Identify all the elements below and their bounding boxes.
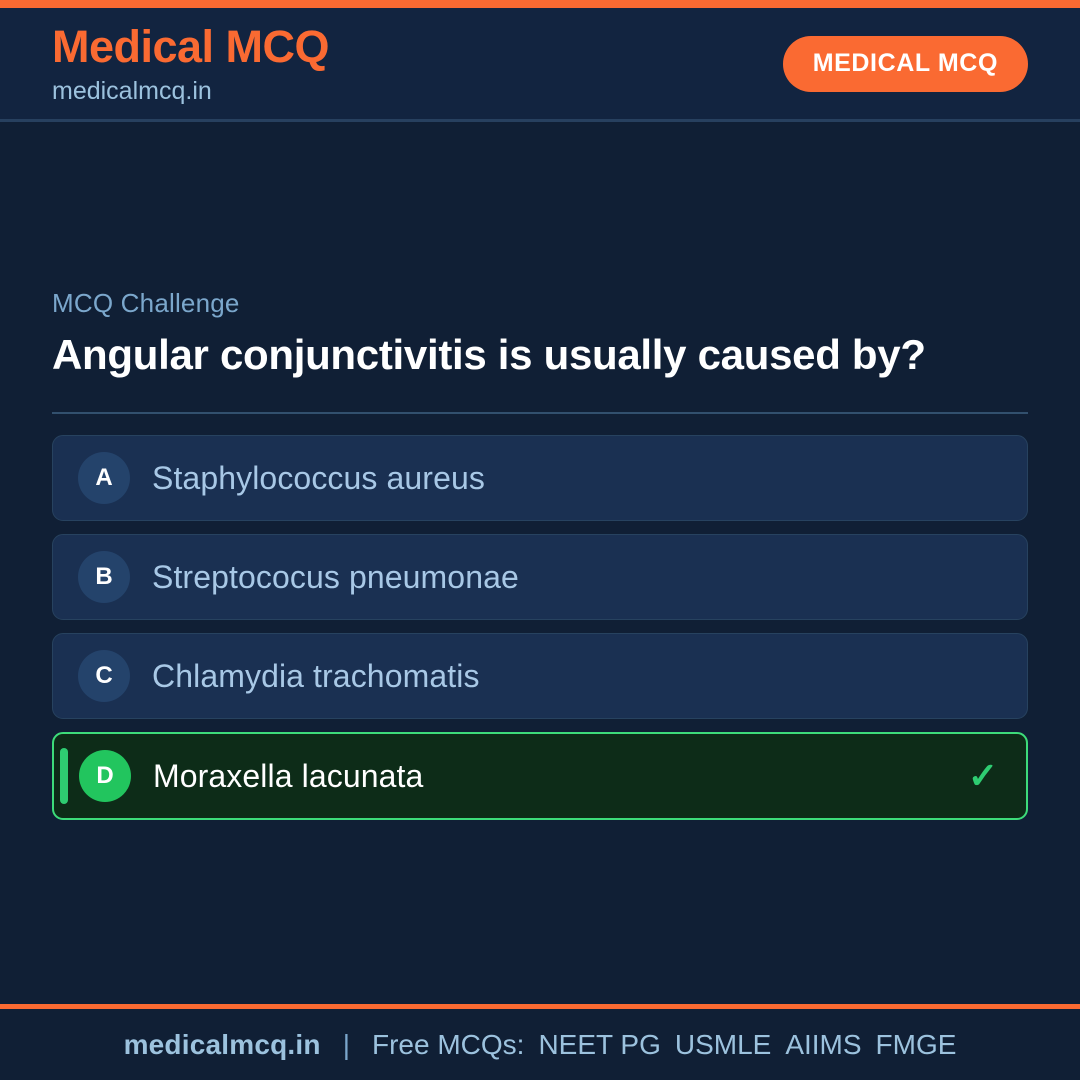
option-c[interactable]: C Chlamydia trachomatis xyxy=(52,633,1028,719)
footer-site-link[interactable]: medicalmcq.in xyxy=(124,1029,321,1061)
section-divider xyxy=(52,412,1028,414)
footer-exam-fmge[interactable]: FMGE xyxy=(876,1029,957,1061)
main-content: MCQ Challenge Angular conjunctivitis is … xyxy=(0,122,1080,1004)
option-label: Moraxella lacunata xyxy=(153,759,968,794)
option-label: Streptococus pneumonae xyxy=(152,560,999,595)
mcq-card: Medical MCQ medicalmcq.in MEDICAL MCQ MC… xyxy=(0,0,1080,1080)
eyebrow-label: MCQ Challenge xyxy=(52,288,1028,319)
option-letter-badge: D xyxy=(79,750,131,802)
option-letter-badge: B xyxy=(78,551,130,603)
option-letter-badge: A xyxy=(78,452,130,504)
option-a[interactable]: A Staphylococcus aureus xyxy=(52,435,1028,521)
footer-label: Free MCQs: xyxy=(372,1029,524,1061)
option-d[interactable]: D Moraxella lacunata ✓ xyxy=(52,732,1028,820)
page-header: Medical MCQ medicalmcq.in MEDICAL MCQ xyxy=(0,8,1080,122)
option-label: Staphylococcus aureus xyxy=(152,461,999,496)
brand-subtitle: medicalmcq.in xyxy=(52,78,329,104)
option-letter-badge: C xyxy=(78,650,130,702)
brand-title: Medical MCQ xyxy=(52,23,329,70)
question-text: Angular conjunctivitis is usually caused… xyxy=(52,329,982,380)
correct-accent-bar xyxy=(60,748,68,804)
footer-exam-aiims[interactable]: AIIMS xyxy=(785,1029,861,1061)
top-accent-bar xyxy=(0,0,1080,8)
brand: Medical MCQ medicalmcq.in xyxy=(52,23,329,104)
question-block: MCQ Challenge Angular conjunctivitis is … xyxy=(52,288,1028,380)
footer-separator: | xyxy=(343,1029,350,1061)
header-badge: MEDICAL MCQ xyxy=(783,36,1028,92)
footer-exam-neet-pg[interactable]: NEET PG xyxy=(538,1029,660,1061)
option-b[interactable]: B Streptococus pneumonae xyxy=(52,534,1028,620)
page-footer: medicalmcq.in | Free MCQs: NEET PG USMLE… xyxy=(0,1004,1080,1080)
footer-text: medicalmcq.in | Free MCQs: NEET PG USMLE… xyxy=(124,1029,957,1061)
options-list: A Staphylococcus aureus B Streptococus p… xyxy=(52,435,1028,820)
option-label: Chlamydia trachomatis xyxy=(152,659,999,694)
footer-exam-usmle[interactable]: USMLE xyxy=(675,1029,771,1061)
check-icon: ✓ xyxy=(968,758,998,794)
